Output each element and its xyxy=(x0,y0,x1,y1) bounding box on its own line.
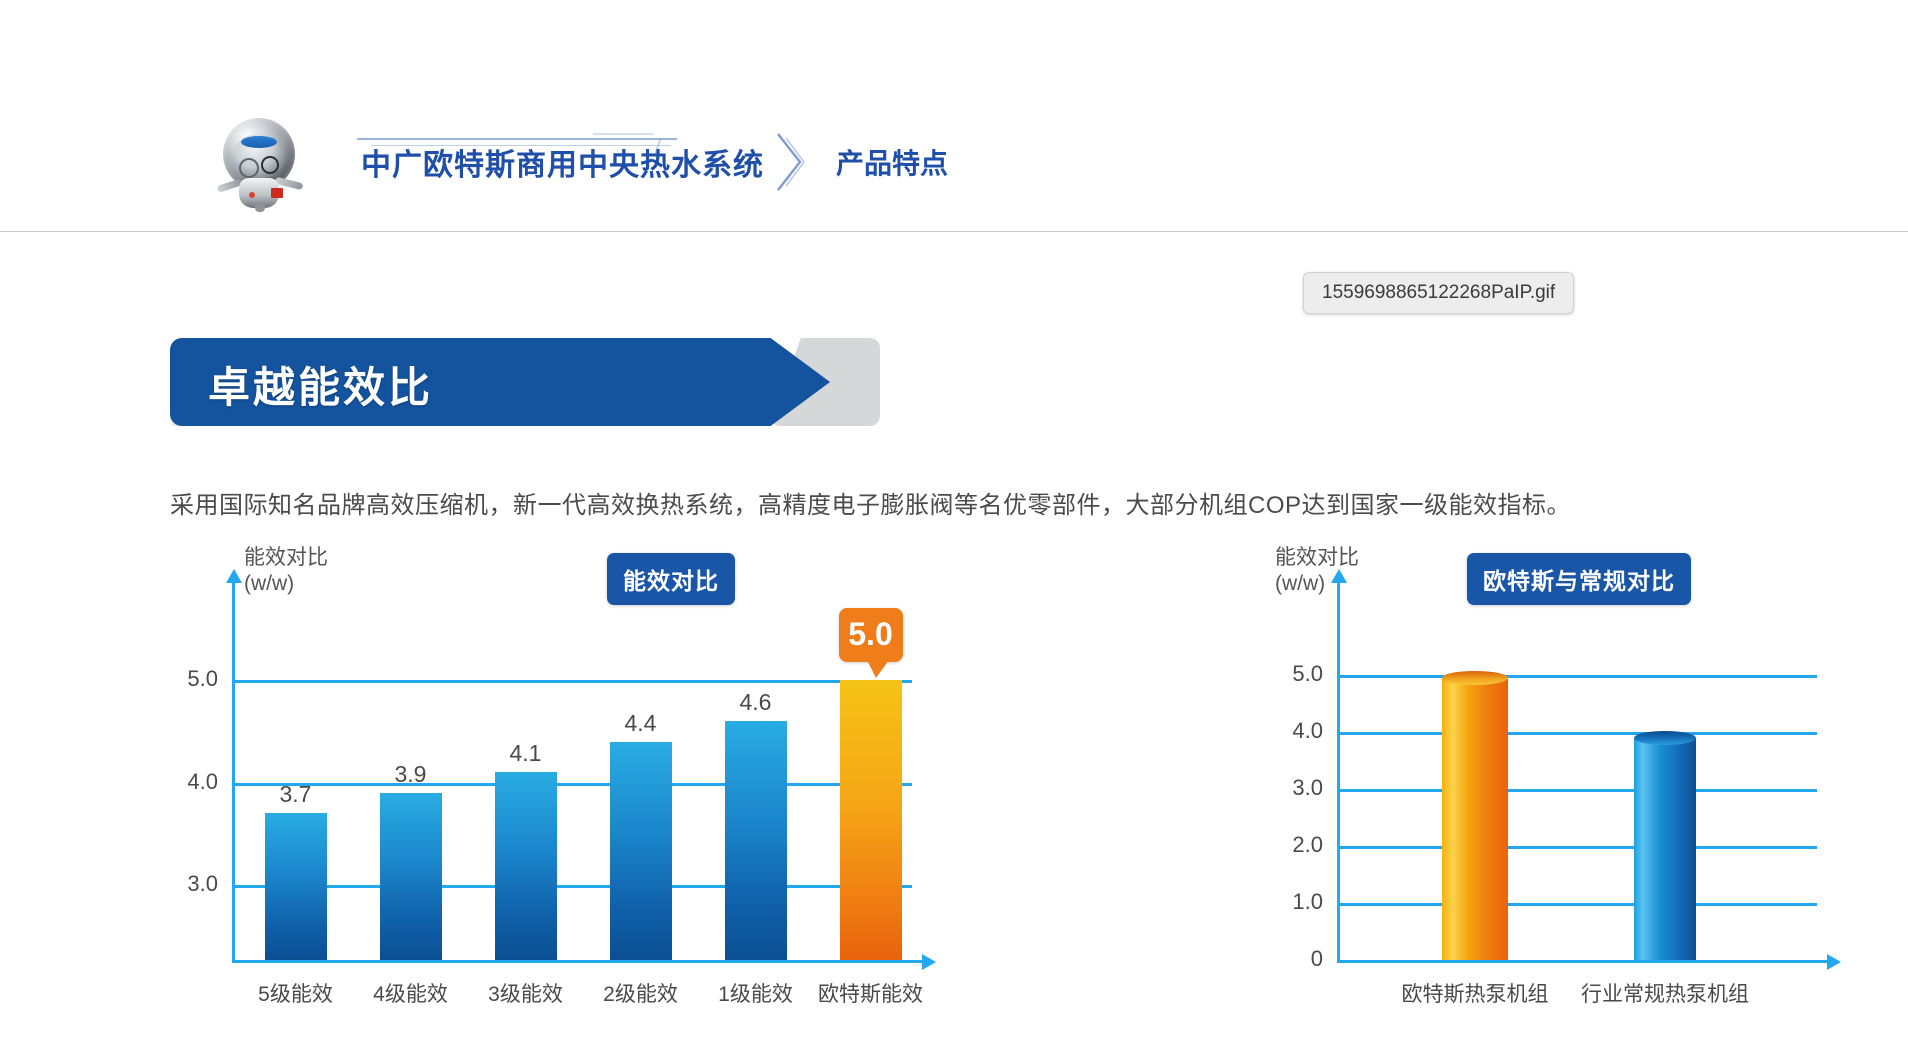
left-chart-y-tick: 4.0 xyxy=(170,769,218,795)
right-chart-gridline xyxy=(1337,903,1817,906)
header-divider xyxy=(0,231,1908,232)
left-chart-bar xyxy=(380,793,442,960)
description-text: 采用国际知名品牌高效压缩机，新一代高效换热系统，高精度电子膨胀阀等名优零部件，大… xyxy=(170,485,1571,520)
left-chart-bar-value: 3.7 xyxy=(256,781,336,808)
efficiency-comparison-chart: 能效对比 (w/w) 能效对比 3.04.05.03.75级能效3.94级能效4… xyxy=(170,545,1130,1035)
left-chart-y-axis xyxy=(232,583,235,960)
right-chart-y-tick: 4.0 xyxy=(1275,718,1323,744)
right-chart-gridline xyxy=(1337,846,1817,849)
brand-title: 中广欧特斯商用中央热水系统 xyxy=(361,140,764,184)
banner-title: 卓越能效比 xyxy=(208,354,433,415)
right-chart-x-axis xyxy=(1337,960,1827,963)
right-chart-y-tick: 0 xyxy=(1275,946,1323,972)
mascot-robot-logo xyxy=(215,112,307,212)
left-chart-bar xyxy=(725,721,787,960)
left-chart-x-tick: 4级能效 xyxy=(346,978,476,1008)
right-chart-x-tick: 欧特斯热泵机组 xyxy=(1365,978,1585,1008)
right-chart-y-axis-arrow xyxy=(1331,569,1347,583)
page-header: 中广欧特斯商用中央热水系统 产品特点 xyxy=(0,0,1908,231)
left-chart-x-axis-arrow xyxy=(922,954,936,970)
section-banner: 卓越能效比 xyxy=(170,338,1000,443)
left-chart-callout-pointer xyxy=(867,660,889,678)
left-chart-y-tick: 3.0 xyxy=(170,871,218,897)
left-chart-x-tick: 5级能效 xyxy=(231,978,361,1008)
left-chart-bar-value: 3.9 xyxy=(371,761,451,788)
left-chart-x-tick: 2级能效 xyxy=(576,978,706,1008)
left-chart-bar xyxy=(610,742,672,961)
left-chart-gridline xyxy=(232,680,912,683)
left-chart-bar-value: 4.4 xyxy=(601,710,681,737)
left-chart-x-tick: 3级能效 xyxy=(461,978,591,1008)
left-chart-y-axis-arrow xyxy=(226,569,242,583)
right-chart-gridline xyxy=(1337,789,1817,792)
brand-ribbon: 中广欧特斯商用中央热水系统 xyxy=(313,125,808,199)
chevron-right-icon xyxy=(774,132,808,192)
left-chart-bar-value: 4.6 xyxy=(716,689,796,716)
otes-vs-conventional-chart: 能效对比 (w/w) 欧特斯与常规对比 5.04.03.02.01.00欧特斯热… xyxy=(1275,545,1895,1035)
right-chart-x-tick: 行业常规热泵机组 xyxy=(1555,978,1775,1008)
right-chart-y-tick: 3.0 xyxy=(1275,775,1323,801)
left-chart-bar xyxy=(840,680,902,960)
left-chart-bar xyxy=(495,772,557,960)
left-chart-x-tick: 1级能效 xyxy=(691,978,821,1008)
right-chart-y-tick: 1.0 xyxy=(1275,889,1323,915)
right-chart-y-tick: 2.0 xyxy=(1275,832,1323,858)
left-chart-plot-area: 3.04.05.03.75级能效3.94级能效4.13级能效4.42级能效4.6… xyxy=(170,545,1130,1035)
right-chart-y-tick: 5.0 xyxy=(1275,661,1323,687)
left-chart-y-tick: 5.0 xyxy=(170,666,218,692)
page-title: 产品特点 xyxy=(836,142,948,182)
file-name-chip: 1559698865122268PaIP.gif xyxy=(1303,272,1574,314)
right-chart-cylinder xyxy=(1442,678,1508,960)
left-chart-x-axis xyxy=(232,960,922,963)
left-chart-highlight-callout: 5.0 xyxy=(839,608,903,662)
left-chart-x-tick: 欧特斯能效 xyxy=(806,978,936,1008)
right-chart-cylinder xyxy=(1634,738,1696,960)
left-chart-bar xyxy=(265,813,327,960)
right-chart-plot-area: 5.04.03.02.01.00欧特斯热泵机组行业常规热泵机组 xyxy=(1275,545,1895,1035)
left-chart-bar-value: 4.1 xyxy=(486,740,566,767)
right-chart-gridline xyxy=(1337,732,1817,735)
right-chart-gridline xyxy=(1337,675,1817,678)
left-chart-gridline xyxy=(232,885,912,888)
right-chart-x-axis-arrow xyxy=(1827,954,1841,970)
